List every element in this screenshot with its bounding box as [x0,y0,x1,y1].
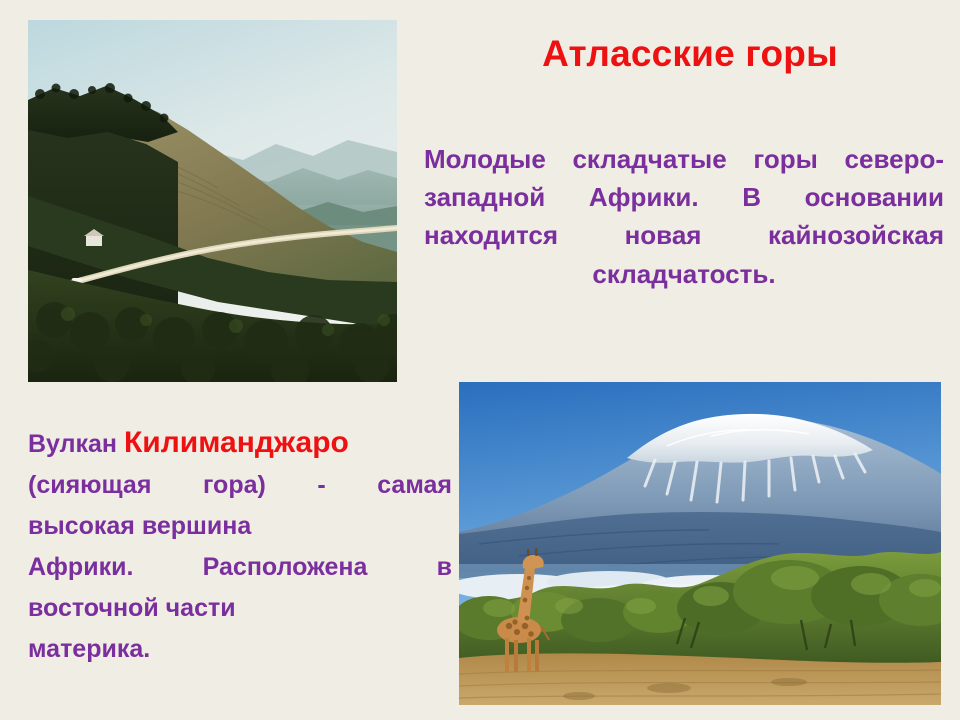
slide-canvas: Атласские горы Молодые складчатые горы с… [0,0,960,720]
kilimanjaro-description: Вулкан Килиманджаро (сияющая гора) - сам… [28,422,452,670]
kilimanjaro-line-4: Африки. Расположена в [28,547,452,588]
kilimanjaro-line-1: Вулкан Килиманджаро [28,422,452,465]
kilimanjaro-illustration [459,382,941,705]
atlas-description: Молодые складчатые горы северо-западной … [424,140,944,293]
kilimanjaro-line-3: высокая вершина [28,506,452,547]
photo-kilimanjaro [459,382,941,705]
kilimanjaro-prefix: Вулкан [28,430,124,458]
photo-atlas-mountains [28,20,397,382]
slide-title: Атласские горы [420,34,960,75]
kilimanjaro-line-2: (сияющая гора) - самая [28,465,452,506]
kilimanjaro-name: Килиманджаро [124,426,349,459]
hillside-house [86,236,102,246]
atlas-mountains-illustration [28,20,397,382]
kilimanjaro-line-5: восточной части [28,588,452,629]
kilimanjaro-line-6: материка. [28,629,452,670]
atlas-description-line-1: Молодые складчатые горы [424,144,818,174]
